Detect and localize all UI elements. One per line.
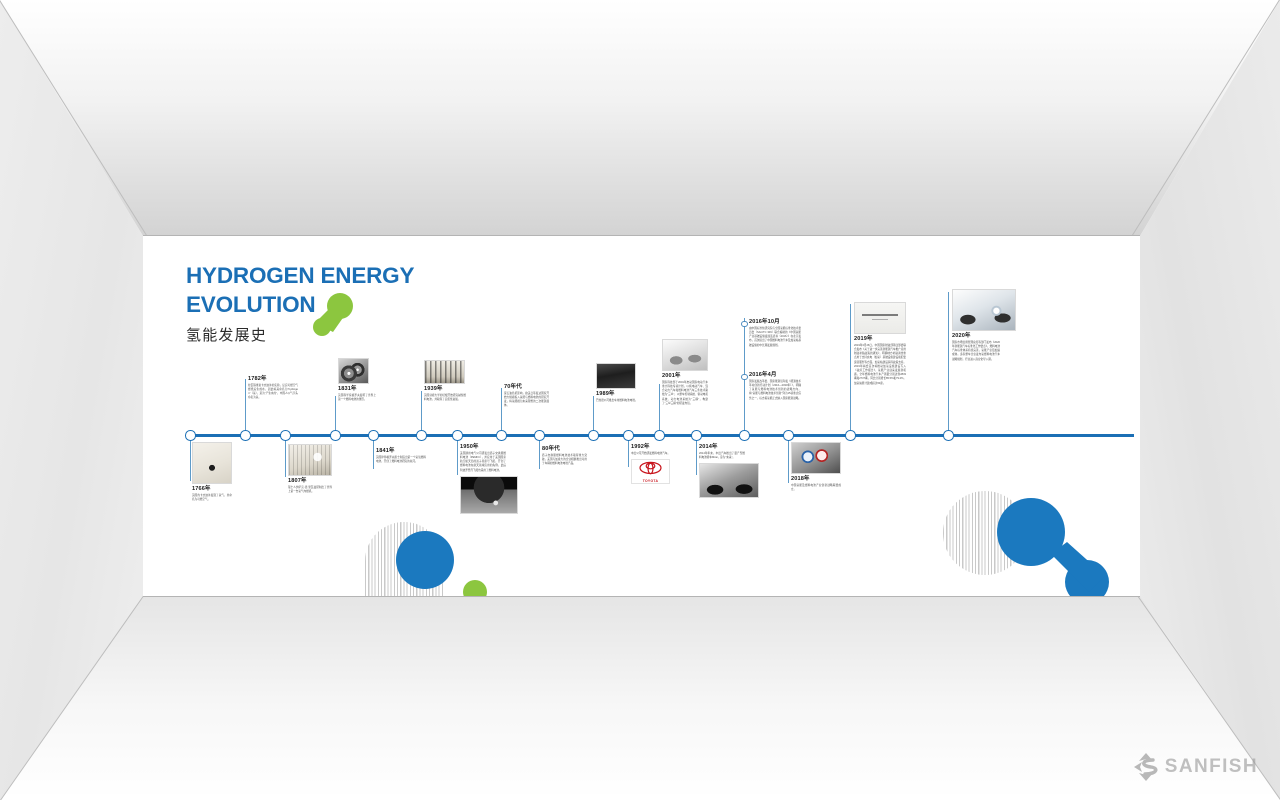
timeline-node[interactable] <box>691 430 702 441</box>
entry-body: 美国通用电气公司研发出质子交换膜燃料电池（PEMFC），并应用于美国国家航空航天… <box>460 452 506 473</box>
timeline-stem <box>659 384 660 434</box>
entry-thumbnail <box>791 442 841 474</box>
entry-year: 2019年 <box>854 336 906 342</box>
entry-year: 2001年 <box>662 373 708 379</box>
timeline-stem <box>421 391 422 434</box>
timeline-node[interactable] <box>739 430 750 441</box>
decor-circle-blue-left <box>396 531 454 589</box>
entry-thumbnail <box>338 358 369 384</box>
entry-body: 国家科技部于2001年启动国家电动汽车重大科技专项计划，以纯电动汽车、混合动力汽… <box>662 381 708 406</box>
entry-body: 拉瓦锡重复卡文迪许的实验，证实可燃空气燃烧后生成水，因此将其命名为"hydrog… <box>248 384 298 401</box>
entry-thumbnail <box>460 476 518 514</box>
room-ceiling <box>0 0 1280 240</box>
timeline-entry[interactable]: 2020年 国家市场监督管理总局等部门发布《2020年新能源汽车标准化工作要点》… <box>952 289 1000 362</box>
timeline-entry[interactable]: 1807年 瑞士人伊萨克·德·里瓦兹研制出了世界上第一台氢气内燃机。 <box>288 444 332 494</box>
timeline-node[interactable] <box>185 430 196 441</box>
entry-body: 中国氢能及燃料电池产业创新战略联盟成立。 <box>791 484 841 492</box>
entry-thumbnail <box>596 363 636 389</box>
timeline-node[interactable] <box>280 430 291 441</box>
entry-year: 80年代 <box>542 446 587 452</box>
entry-body: 质子交换膜燃料电池技术取得重大突破，美国与加拿大的企业相继推出可用于车辆的燃料电… <box>542 454 587 467</box>
entry-thumbnail <box>952 289 1016 331</box>
green-molecule-icon <box>309 292 355 338</box>
timeline-stem <box>245 379 246 434</box>
timeline-stem <box>593 396 594 434</box>
entry-year: 1989年 <box>596 391 638 397</box>
timeline-entry[interactable]: 80年代 质子交换膜燃料电池技术取得重大突破，美国与加拿大的企业相继推出可用于车… <box>542 446 587 466</box>
scene-root: HYDROGEN ENERGY EVOLUTION 氢能发展史 1766年 英国… <box>0 0 1280 800</box>
timeline-entry[interactable]: 1782年 拉瓦锡重复卡文迪许的实验，证实可燃空气燃烧后生成水，因此将其命名为"… <box>248 376 298 401</box>
entry-thumbnail <box>662 339 708 371</box>
timeline-stem <box>948 292 949 434</box>
toyota-logo-icon <box>632 461 669 476</box>
timeline-sub-dot[interactable] <box>741 321 747 327</box>
timeline-node[interactable] <box>534 430 545 441</box>
timeline-node[interactable] <box>496 430 507 441</box>
timeline-entry[interactable]: 2014年 2014年年末，丰田汽车推出了量产型燃料电池轿车Mirai，意为"未… <box>699 444 745 498</box>
entry-year: 1992年 <box>631 444 673 450</box>
timeline-entry[interactable]: 1939年 英国剑桥大学的培根开始研究碱性燃料电池，并取得了实质性进展。 <box>424 360 466 402</box>
timeline-node[interactable] <box>240 430 251 441</box>
entry-year: 2020年 <box>952 333 1000 339</box>
entry-year: 70年代 <box>504 384 549 390</box>
entry-year: 1807年 <box>288 478 332 484</box>
entry-body: 巴拉德公司推出车用燃料电池电堆。 <box>596 399 638 403</box>
entry-year: 1766年 <box>192 486 232 492</box>
timeline-node[interactable] <box>943 430 954 441</box>
timeline-stem <box>335 396 336 434</box>
entry-body: 英国的卡文迪许发现了氢气，并命名为可燃空气。 <box>192 494 232 502</box>
entry-year: 1950年 <box>460 444 506 450</box>
entry-body: 2014年年末，丰田汽车推出了量产型燃料电池轿车Mirai，意为"未来"。 <box>699 452 745 460</box>
timeline-entry[interactable]: 1950年 美国通用电气公司研发出质子交换膜燃料电池（PEMFC），并应用于美国… <box>460 444 506 514</box>
timeline-entry[interactable]: 2019年 2019年3月26日，中国国家财政部等四部委联合发布《关于进一步完善… <box>854 302 906 386</box>
timeline-node[interactable] <box>368 430 379 441</box>
timeline-stem <box>696 437 697 475</box>
timeline-entry[interactable]: 1766年 英国的卡文迪许发现了氢气，并命名为可燃空气。 <box>192 442 232 502</box>
timeline-entry[interactable]: 2001年 国家科技部于2001年启动国家电动汽车重大科技专项计划，以纯电动汽车… <box>662 339 708 406</box>
entry-thumbnail <box>424 360 465 384</box>
entry-body: 英国剑桥大学的培根开始研究碱性燃料电池，并取得了实质性进展。 <box>424 394 466 402</box>
timeline-node[interactable] <box>452 430 463 441</box>
entry-body: 国家发展改革委、国家能源局印发《能源技术革命创新行动计划（2016—2030年）… <box>749 380 801 401</box>
entry-body: 由中国标准化研究院与全国氢能标准化技术委员会（SAC/TC 309）联合编制的《… <box>749 327 801 348</box>
timeline-stem <box>457 437 458 475</box>
watermark-text: SANFISH <box>1165 756 1258 778</box>
timeline-stem <box>501 388 502 434</box>
timeline-entry[interactable]: 1841年 英国律师格罗夫爵士制造出第一个氢氧燃料电池，开创了燃料电池研究的先河… <box>376 448 426 464</box>
entry-year: 2016年10月 <box>749 319 801 325</box>
decor-molecule-right <box>993 498 1123 596</box>
watermark: SANFISH <box>1133 752 1258 782</box>
entry-body: 英国科学家格罗夫发明了世界上第一个燃料电池的雏形。 <box>338 394 376 402</box>
timeline-stem <box>628 437 629 467</box>
timeline-entry[interactable]: 70年代 受石油危机影响，欧美日等发达国家开始大规模投入氢能与燃料电池的研究开发… <box>504 384 549 409</box>
timeline-node[interactable] <box>623 430 634 441</box>
room-floor <box>0 590 1280 800</box>
timeline-stem <box>539 437 540 469</box>
timeline-stem <box>850 304 851 434</box>
timeline-stem <box>788 437 789 483</box>
timeline-node[interactable] <box>416 430 427 441</box>
timeline-node[interactable] <box>783 430 794 441</box>
entry-thumbnail: TOYOTA <box>631 459 670 484</box>
entry-year: 2016年4月 <box>749 372 801 378</box>
timeline-entry[interactable]: 1989年 巴拉德公司推出车用燃料电池电堆。 <box>596 363 638 403</box>
entry-year: 2018年 <box>791 476 841 482</box>
entry-thumbnail <box>854 302 906 334</box>
edge-panel-bottom <box>143 596 1140 597</box>
timeline-node[interactable] <box>654 430 665 441</box>
entry-body: 丰田公司开始研发燃料电池汽车。 <box>631 452 673 456</box>
entry-body: 2019年3月26日，中国国家财政部等四部委联合发布《关于进一步完善新能源汽车推… <box>854 344 906 386</box>
timeline-entry[interactable]: 1831年 英国科学家格罗夫发明了世界上第一个燃料电池的雏形。 <box>338 358 376 402</box>
doc-sub-line <box>872 319 888 320</box>
timeline-entry[interactable]: 2018年 中国氢能及燃料电池产业创新战略联盟成立。 <box>791 442 841 492</box>
wall-panel: HYDROGEN ENERGY EVOLUTION 氢能发展史 1766年 英国… <box>143 236 1140 596</box>
sanfish-logo-icon <box>1133 752 1159 782</box>
timeline-stem <box>373 437 374 469</box>
decor-circle-green-left <box>463 580 487 596</box>
toyota-wordmark: TOYOTA <box>632 479 669 483</box>
entry-body: 受石油危机影响，欧美日等发达国家开始大规模投入氢能与燃料电池的研究开发，将氢能视… <box>504 392 549 409</box>
timeline-node[interactable] <box>588 430 599 441</box>
entry-year: 1782年 <box>248 376 298 382</box>
timeline-entry[interactable]: 1992年 丰田公司开始研发燃料电池汽车。 TOYOTA <box>631 444 673 484</box>
doc-title-line <box>862 314 898 316</box>
entry-body: 国家市场监督管理总局等部门发布《2020年新能源汽车标准化工作要点》，燃料电池汽… <box>952 341 1000 362</box>
entry-thumbnail <box>288 444 332 476</box>
timeline-node[interactable] <box>845 430 856 441</box>
entry-thumbnail <box>699 463 759 498</box>
entry-year: 1939年 <box>424 386 466 392</box>
entry-year: 2014年 <box>699 444 745 450</box>
timeline-sub-dot[interactable] <box>741 374 747 380</box>
entry-body: 英国律师格罗夫爵士制造出第一个氢氧燃料电池，开创了燃料电池研究的先河。 <box>376 456 426 464</box>
entry-year: 1841年 <box>376 448 426 454</box>
timeline-stem <box>285 437 286 477</box>
timeline-entry[interactable]: 2016年10月 由中国标准化研究院与全国氢能标准化技术委员会（SAC/TC 3… <box>749 319 801 348</box>
timeline-node[interactable] <box>330 430 341 441</box>
entry-body: 瑞士人伊萨克·德·里瓦兹研制出了世界上第一台氢气内燃机。 <box>288 486 332 494</box>
entry-thumbnail <box>192 442 232 484</box>
timeline-entry[interactable]: 2016年4月 国家发展改革委、国家能源局印发《能源技术革命创新行动计划（201… <box>749 372 801 401</box>
entry-year: 1831年 <box>338 386 376 392</box>
